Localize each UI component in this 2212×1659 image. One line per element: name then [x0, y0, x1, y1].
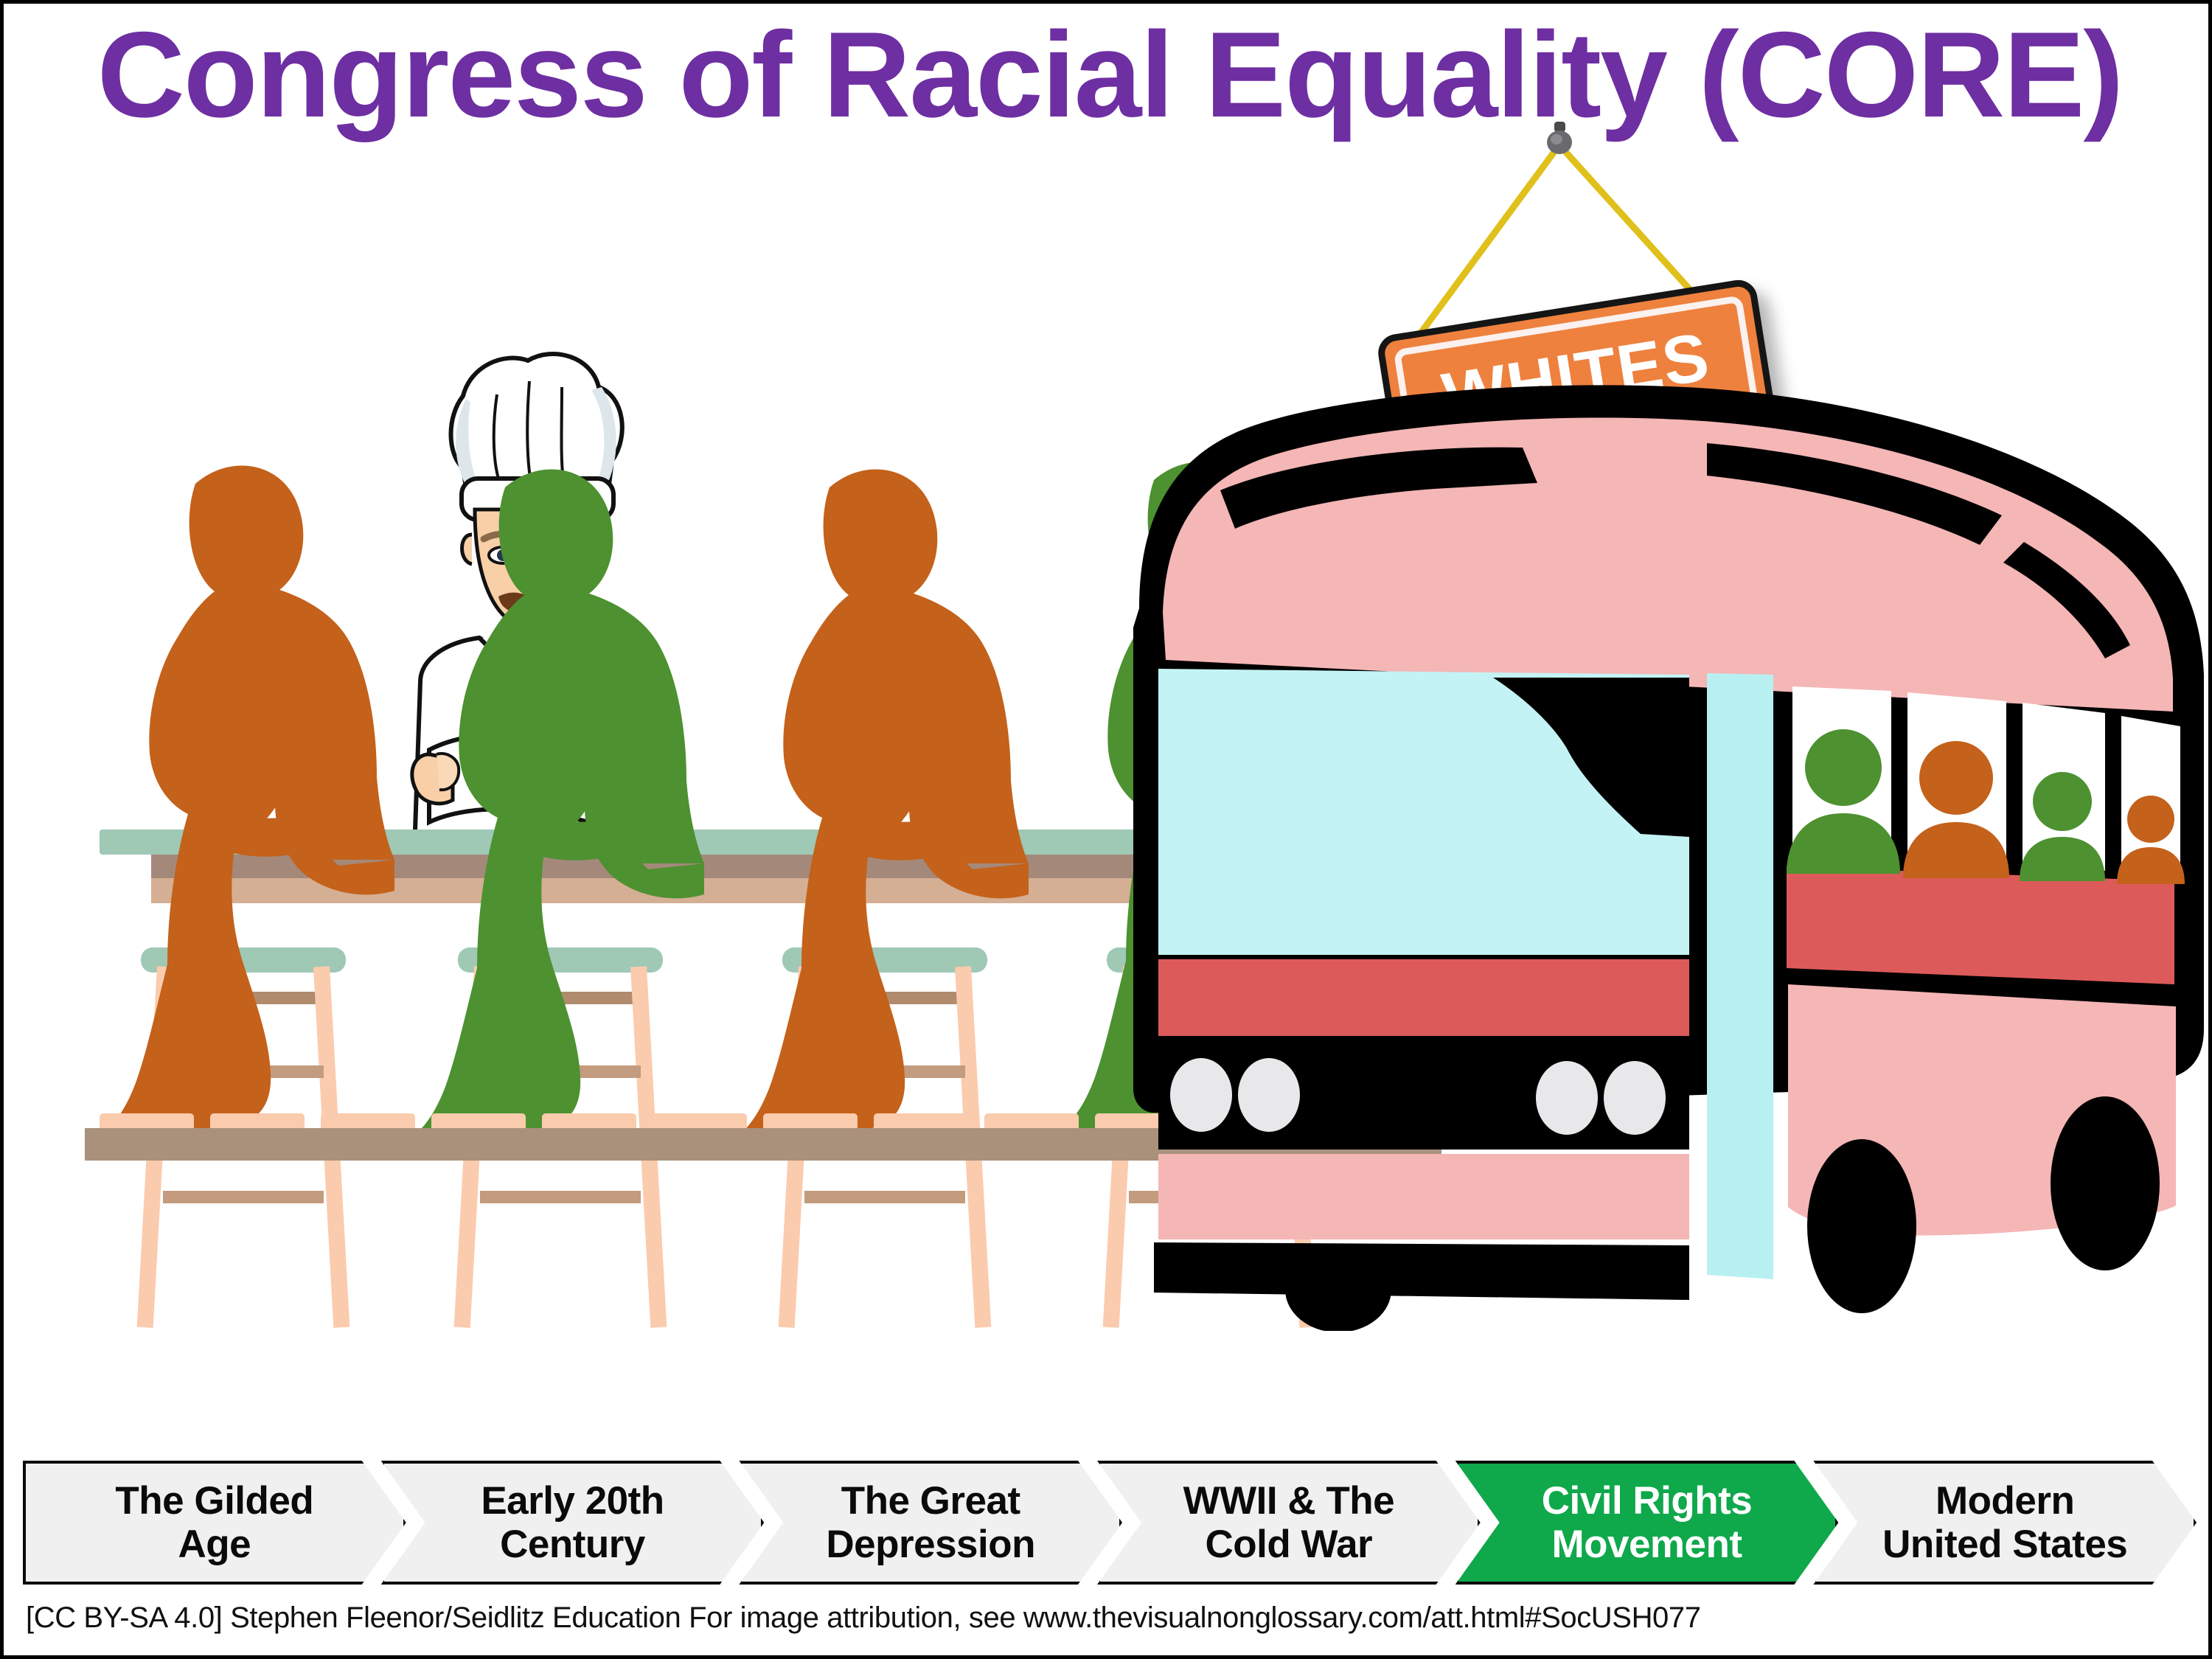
illustration-area: WHITES ONLY: [4, 144, 2212, 1478]
stool-rung: [163, 1191, 324, 1203]
timeline-label: ModernUnited States: [1869, 1479, 2140, 1567]
timeline-item-wwii-cold-war[interactable]: WWII & TheCold War: [1097, 1461, 1481, 1585]
timeline-item-gilded-age[interactable]: The GildedAge: [23, 1461, 406, 1585]
timeline-item-great-depression[interactable]: The GreatDepression: [739, 1461, 1122, 1585]
page-title: Congress of Racial Equality (CORE): [4, 11, 2212, 139]
timeline-label: The GreatDepression: [813, 1479, 1048, 1567]
timeline-item-early-20th-century[interactable]: Early 20thCentury: [381, 1461, 765, 1585]
nail-icon: [1543, 122, 1576, 156]
poster-canvas: Congress of Racial Equality (CORE): [0, 0, 2212, 1659]
stool-rung: [480, 1191, 641, 1203]
timeline-label: Civil RightsMovement: [1528, 1479, 1766, 1567]
timeline-item-modern-united-states[interactable]: ModernUnited States: [1813, 1461, 2197, 1585]
timeline-item-civil-rights-movement[interactable]: Civil RightsMovement: [1455, 1461, 1839, 1585]
stool-rung: [804, 1191, 965, 1203]
timeline-label: Early 20thCentury: [467, 1479, 677, 1567]
timeline: The GildedAge Early 20thCentury The Grea…: [23, 1461, 2197, 1585]
freedom-ride-bus: [1124, 365, 2212, 1331]
timeline-label: WWII & TheCold War: [1170, 1479, 1408, 1567]
timeline-label: The GildedAge: [102, 1479, 327, 1567]
attribution-text: [CC BY-SA 4.0] Stephen Fleenor/Seidlitz …: [26, 1601, 2164, 1635]
